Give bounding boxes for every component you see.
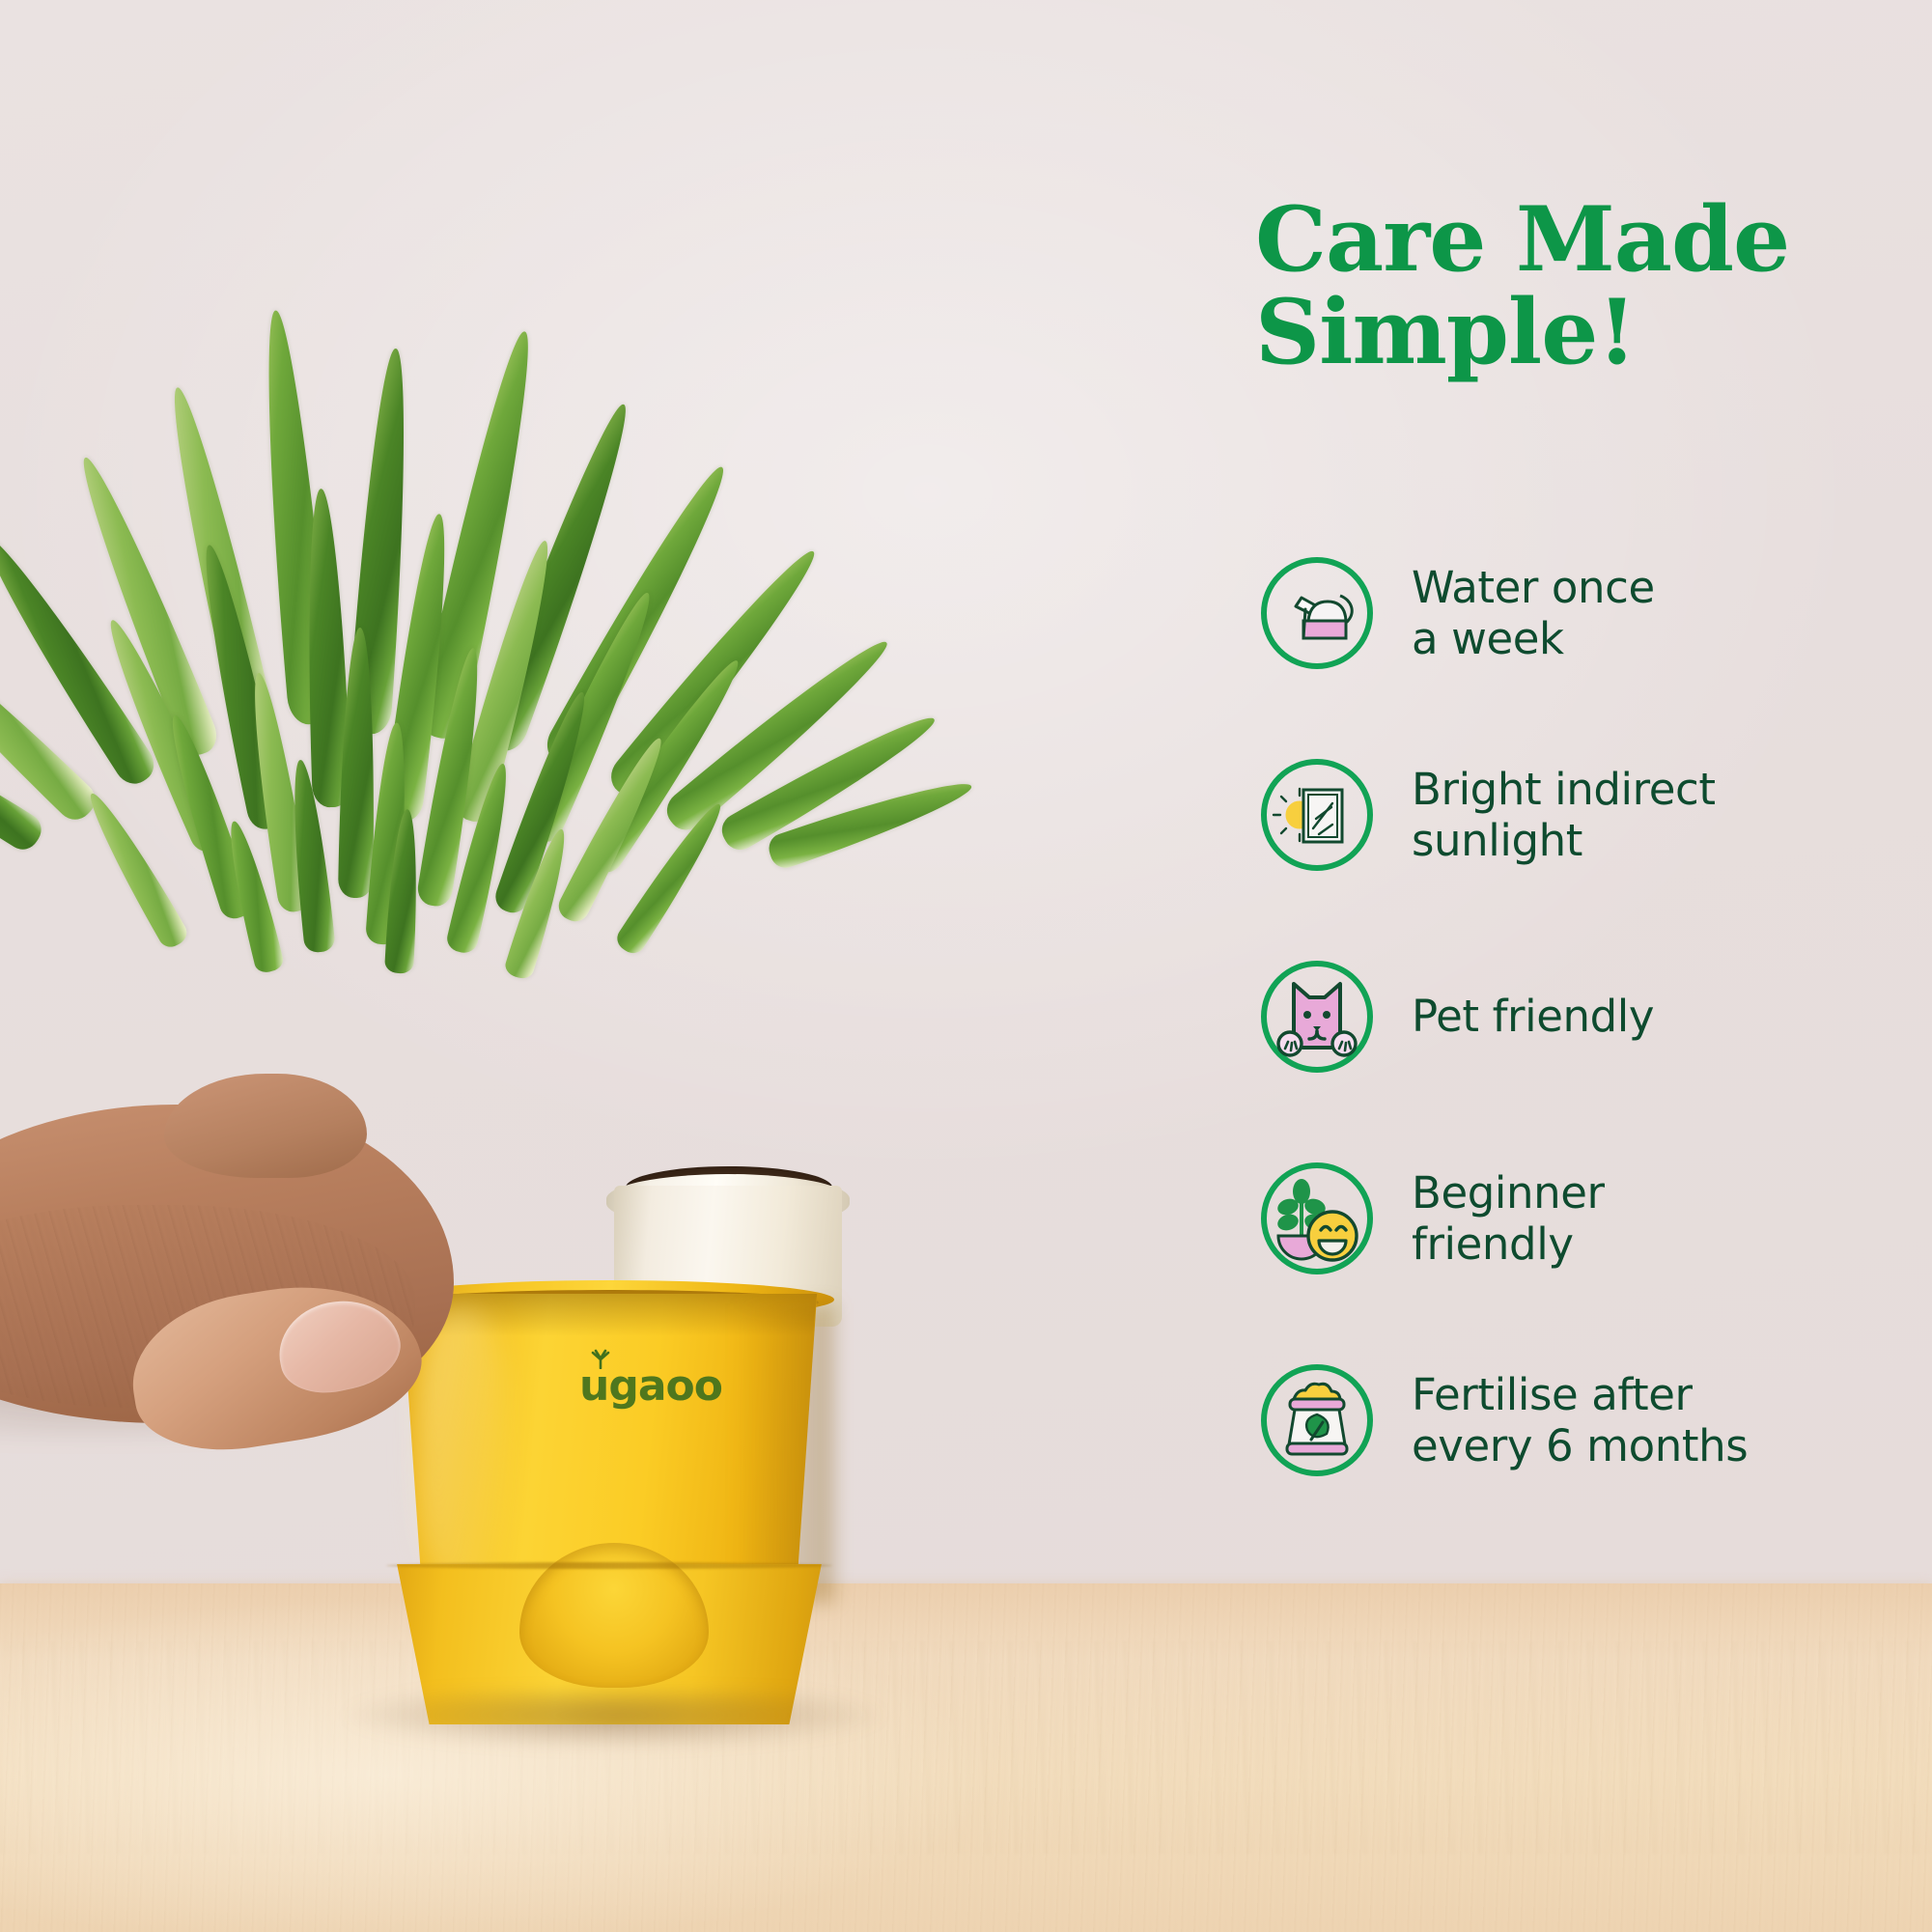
headline-line-2: Simple!: [1255, 279, 1636, 384]
headline-line-1: Care Made: [1255, 186, 1789, 292]
ugaoo-logo: ugaoo: [558, 1342, 742, 1417]
fertiliser-bag-icon: [1255, 1358, 1379, 1482]
feature-water: Water once a week: [1255, 546, 1892, 681]
feature-beginner: Beginner friendly: [1255, 1151, 1892, 1286]
feature-fertilise: Fertilise after every 6 months: [1255, 1353, 1892, 1488]
feature-label: Pet friendly: [1412, 991, 1654, 1042]
promo-image: ugaoo Care MadeSimple!: [0, 0, 1932, 1932]
hand-holding-pot: [0, 1070, 570, 1524]
hand-knuckles: [164, 1074, 367, 1178]
feature-label: Water once a week: [1412, 562, 1655, 664]
feature-label: Beginner friendly: [1412, 1167, 1605, 1270]
watering-can-icon: [1255, 551, 1379, 675]
care-panel: Care MadeSimple! Water once a week: [1255, 193, 1892, 1699]
feature-label: Bright indirect sunlight: [1412, 764, 1716, 866]
pot-side-shadow: [734, 1303, 834, 1603]
feature-pet: Pet friendly: [1255, 949, 1892, 1084]
pot-ground-shadow: [344, 1692, 884, 1748]
window-sun-icon: [1255, 753, 1379, 877]
page-title: Care MadeSimple!: [1255, 193, 1892, 378]
plant-smiley-icon: [1255, 1157, 1379, 1280]
spider-plant-foliage: [0, 290, 985, 1043]
care-feature-list: Water once a week: [1255, 546, 1892, 1554]
feature-label: Fertilise after every 6 months: [1412, 1369, 1748, 1471]
saucer-seam-line: [386, 1562, 832, 1569]
feature-light: Bright indirect sunlight: [1255, 747, 1892, 882]
cat-face-icon: [1255, 955, 1379, 1078]
brand-name: ugaoo: [579, 1361, 722, 1411]
